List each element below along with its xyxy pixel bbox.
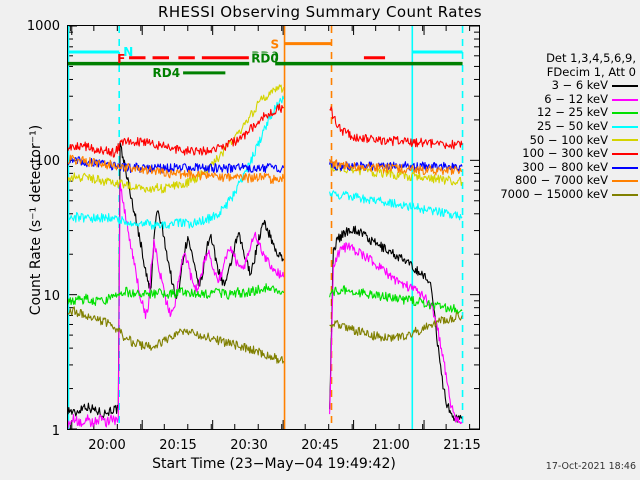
y-tick-label: 1 [0, 424, 60, 439]
generation-timestamp: 17-Oct-2021 18:46 [546, 461, 636, 472]
legend-entry: 12 − 25 keV [486, 106, 638, 120]
legend-entry: 7000 − 15000 keV [486, 188, 638, 202]
legend-color-swatch [612, 153, 638, 155]
legend-entry-label: 7000 − 15000 keV [500, 188, 612, 202]
series-line [68, 307, 284, 363]
legend-color-swatch [612, 167, 638, 169]
legend-color-swatch [612, 139, 638, 141]
legend-color-swatch [612, 112, 638, 114]
chart-plot-area: NFRD0RD4SRD0 [67, 25, 480, 430]
x-tick-label: 20:15 [143, 438, 213, 453]
legend-entry-label: 50 − 100 keV [530, 134, 612, 148]
legend-entry: 100 − 300 keV [486, 147, 638, 161]
series-line [330, 191, 463, 220]
series-line [330, 226, 463, 422]
legend-color-swatch [612, 180, 638, 182]
series-line [330, 243, 463, 424]
chart-legend: Det 1,3,4,5,6,9, FDecim 1, Att 0 3 − 6 k… [486, 52, 638, 202]
series-line [330, 286, 463, 314]
x-tick-label: 20:45 [285, 438, 355, 453]
rd0-marker-label-top: RD0 [251, 52, 279, 66]
legend-entry-label: 100 − 300 keV [522, 147, 612, 161]
legend-entry: 6 − 12 keV [486, 93, 638, 107]
rd4-marker-label: RD4 [153, 66, 181, 80]
legend-color-swatch [612, 126, 638, 128]
series-line [68, 180, 284, 428]
series-line [330, 313, 463, 342]
legend-header-fdecim: FDecim 1, Att 0 [486, 66, 638, 80]
x-tick-label: 20:30 [214, 438, 284, 453]
legend-entry-label: 800 − 7000 keV [515, 174, 612, 188]
legend-entry-label: 300 − 800 keV [522, 161, 612, 175]
x-axis-title: Start Time (23−May−04 19:49:42) [0, 456, 548, 472]
x-tick-label: 21:00 [356, 438, 426, 453]
legend-entry: 3 − 6 keV [486, 79, 638, 93]
legend-entry-label: 25 − 50 keV [537, 120, 612, 134]
y-tick-label: 1000 [0, 19, 60, 34]
legend-entry-label: 3 − 6 keV [552, 79, 612, 93]
legend-entry: 25 − 50 keV [486, 120, 638, 134]
legend-entry: 800 − 7000 keV [486, 174, 638, 188]
legend-header-detectors: Det 1,3,4,5,6,9, [486, 52, 638, 66]
x-tick-label: 21:15 [427, 438, 497, 453]
saa-marker-label: S [271, 38, 280, 52]
legend-entry-label: 12 − 25 keV [537, 106, 612, 120]
legend-entry: 300 − 800 keV [486, 161, 638, 175]
x-tick-label: 20:00 [72, 438, 142, 453]
chart-svg: NFRD0RD4SRD0 [68, 26, 479, 429]
legend-color-swatch [612, 194, 638, 196]
y-axis-title: Count Rate (s⁻¹ detector⁻¹) [28, 100, 44, 340]
legend-entry-label: 6 − 12 keV [544, 93, 612, 107]
flare-marker-label: F [117, 52, 125, 66]
page-title: RHESSI Observing Summary Count Rates [0, 3, 640, 21]
legend-color-swatch [612, 99, 638, 101]
legend-color-swatch [612, 85, 638, 87]
series-line [330, 107, 463, 149]
legend-entry: 50 − 100 keV [486, 134, 638, 148]
